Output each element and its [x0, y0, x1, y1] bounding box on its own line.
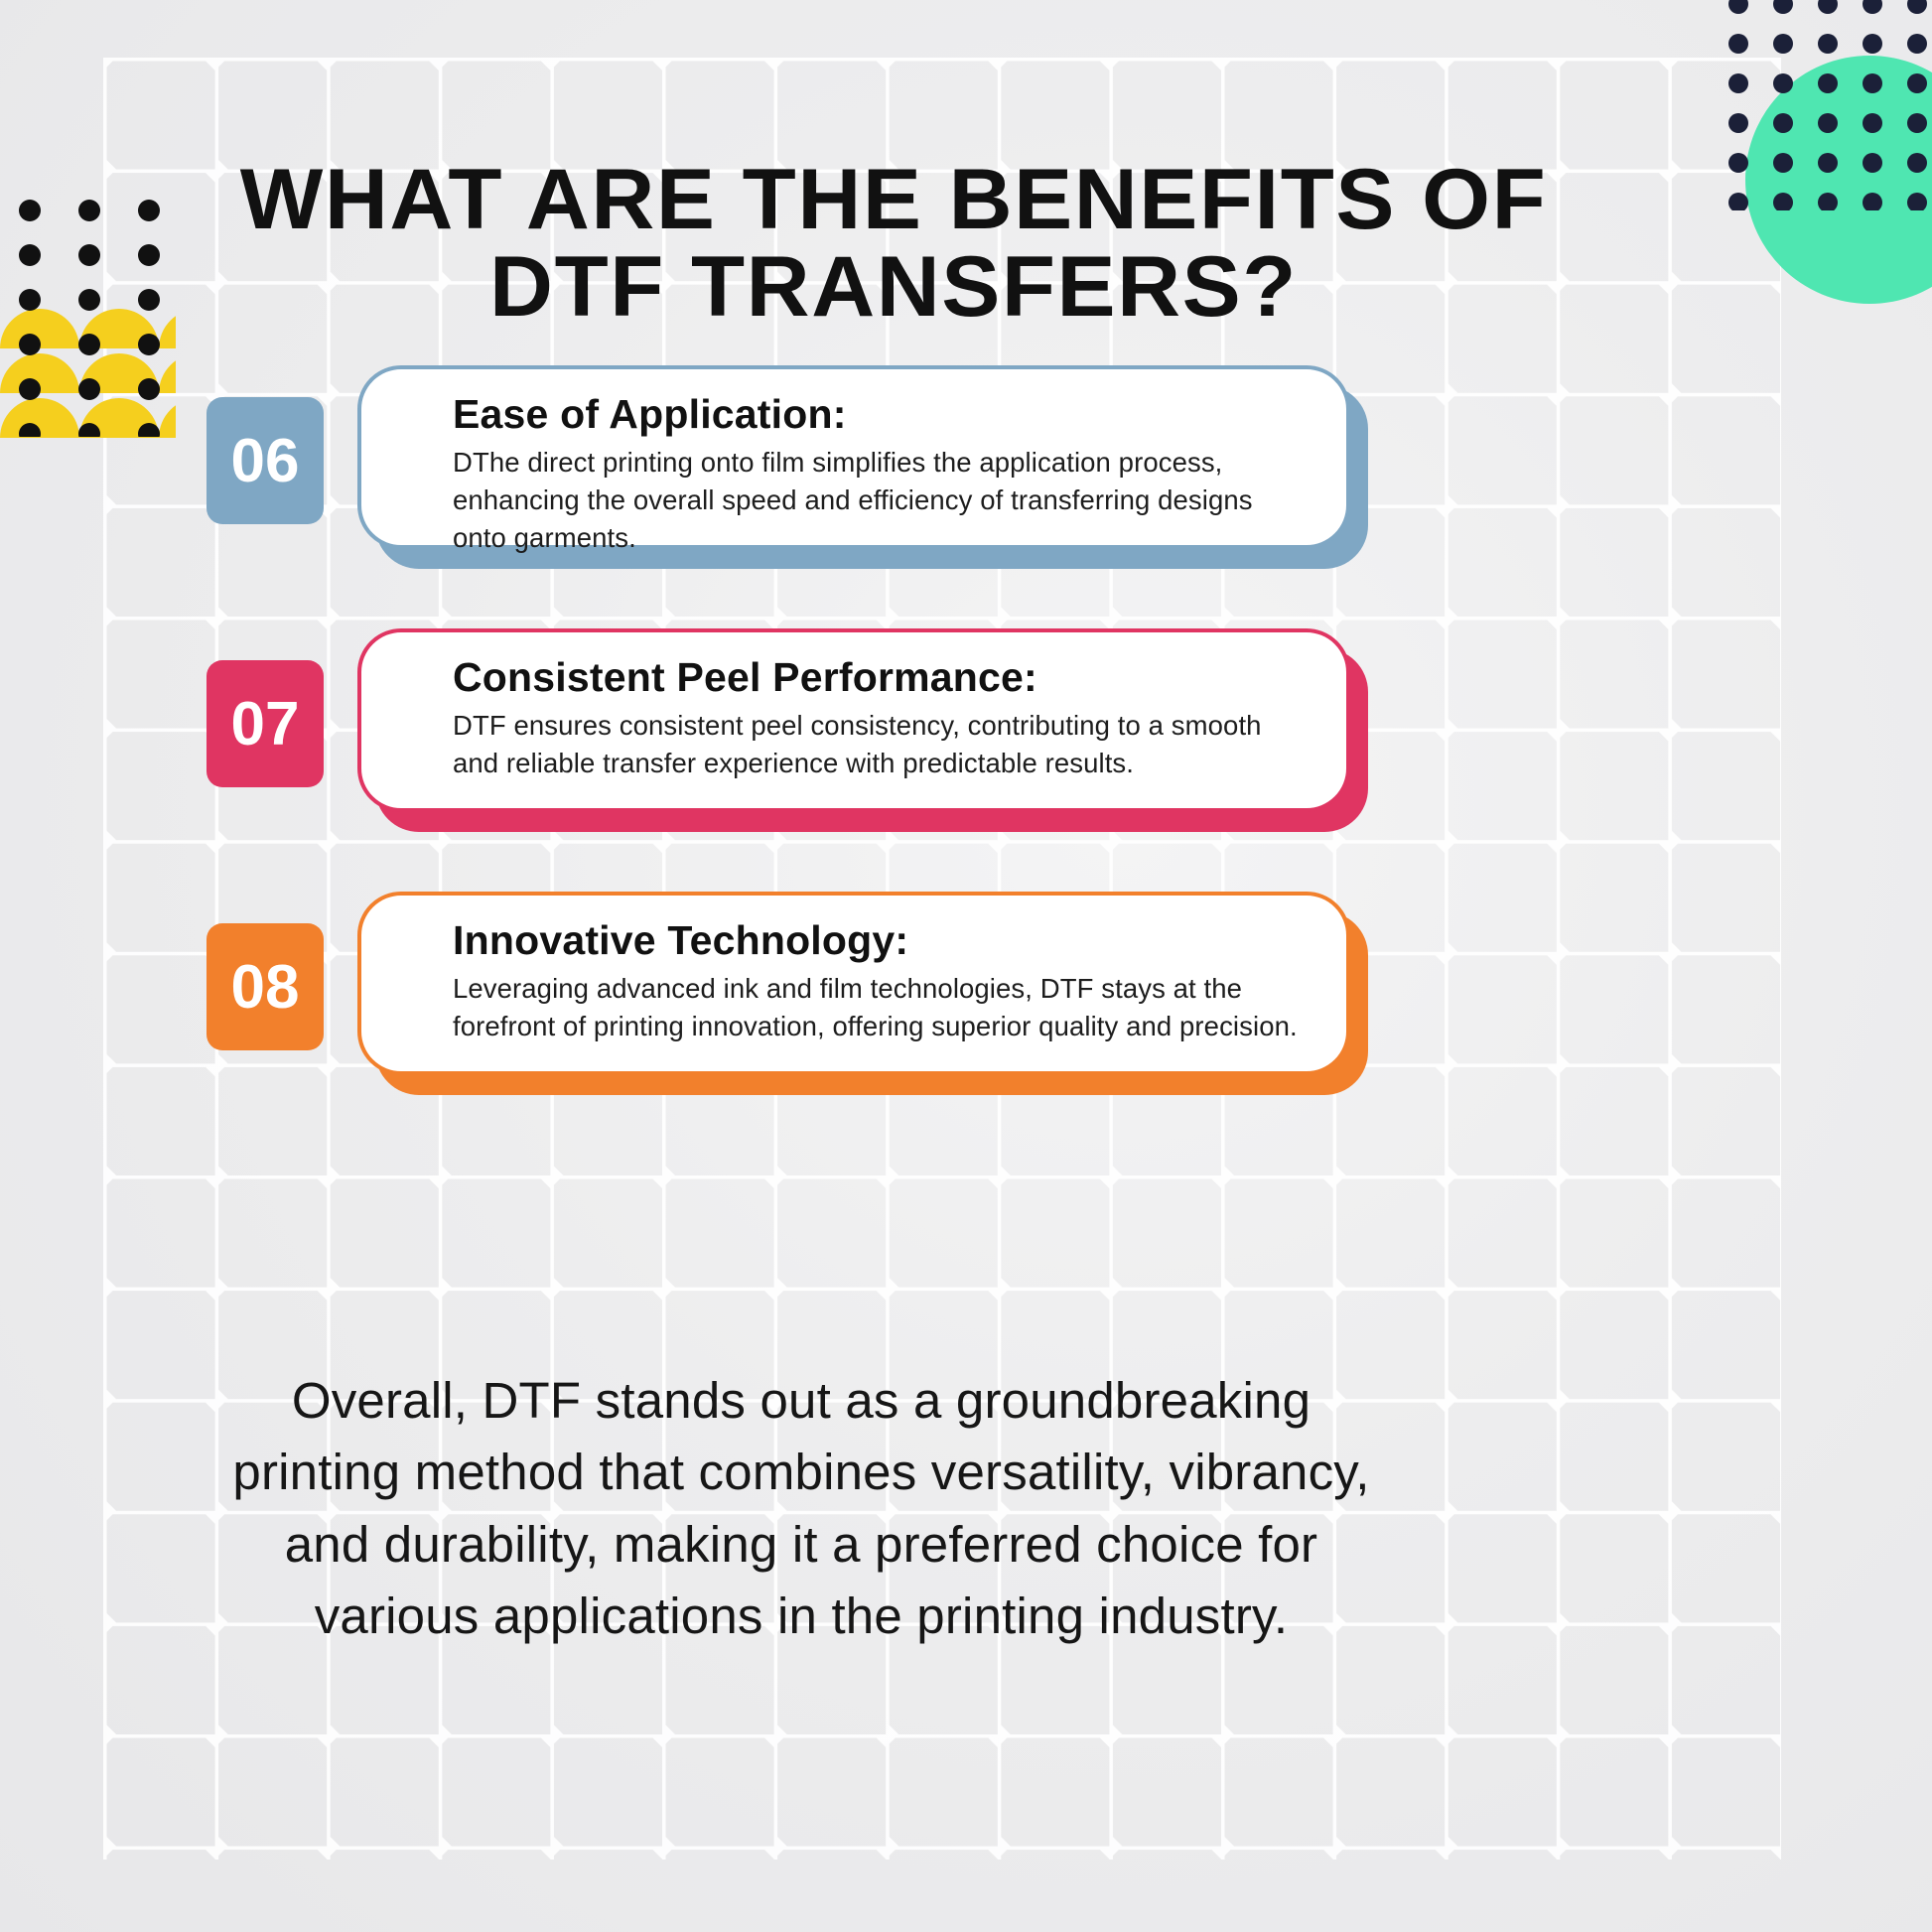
- card-number-badge-06: 06: [207, 397, 324, 524]
- benefit-card-row: 08 Innovative Technology: Leveraging adv…: [0, 892, 1932, 1102]
- card-wrapper: Ease of Application: DThe direct printin…: [357, 365, 1350, 549]
- card-number-badge-07: 07: [207, 660, 324, 787]
- benefit-card-row: 07 Consistent Peel Performance: DTF ensu…: [0, 628, 1932, 839]
- card-number-label: 07: [231, 689, 300, 759]
- benefit-card-06[interactable]: Ease of Application: DThe direct printin…: [357, 365, 1350, 549]
- card-body-text: DThe direct printing onto film simplifie…: [453, 444, 1307, 557]
- card-number-label: 06: [231, 426, 300, 496]
- card-body-text: Leveraging advanced ink and film technol…: [453, 970, 1307, 1045]
- card-body-text: DTF ensures consistent peel consistency,…: [453, 707, 1307, 782]
- card-title: Consistent Peel Performance:: [453, 654, 1307, 701]
- benefit-card-row: 06 Ease of Application: DThe direct prin…: [0, 365, 1932, 576]
- page-title: WHAT ARE THE BENEFITS OF DTF TRANSFERS?: [178, 157, 1609, 331]
- infographic-content: WHAT ARE THE BENEFITS OF DTF TRANSFERS? …: [0, 0, 1932, 1932]
- benefit-card-07[interactable]: Consistent Peel Performance: DTF ensures…: [357, 628, 1350, 812]
- card-title: Innovative Technology:: [453, 917, 1307, 964]
- card-wrapper: Innovative Technology: Leveraging advanc…: [357, 892, 1350, 1075]
- summary-paragraph: Overall, DTF stands out as a groundbreak…: [230, 1365, 1372, 1653]
- benefit-card-list: 06 Ease of Application: DThe direct prin…: [0, 365, 1932, 1155]
- card-wrapper: Consistent Peel Performance: DTF ensures…: [357, 628, 1350, 812]
- card-number-label: 08: [231, 952, 300, 1023]
- benefit-card-08[interactable]: Innovative Technology: Leveraging advanc…: [357, 892, 1350, 1075]
- card-number-badge-08: 08: [207, 923, 324, 1050]
- card-title: Ease of Application:: [453, 391, 1307, 438]
